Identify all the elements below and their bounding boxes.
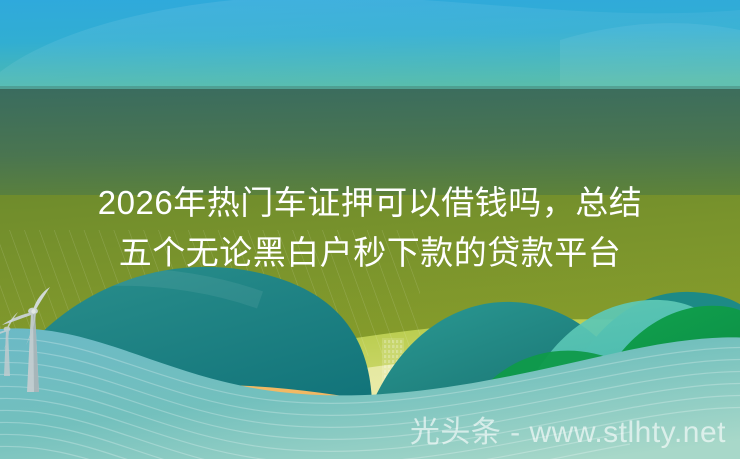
background-scene bbox=[0, 0, 740, 459]
site-watermark: 光头条 - www.stlhty.net bbox=[410, 415, 726, 451]
poster-canvas: 2026年热门车证押可以借钱吗，总结 五个无论黑白户秒下款的贷款平台 光头条 -… bbox=[0, 0, 740, 459]
